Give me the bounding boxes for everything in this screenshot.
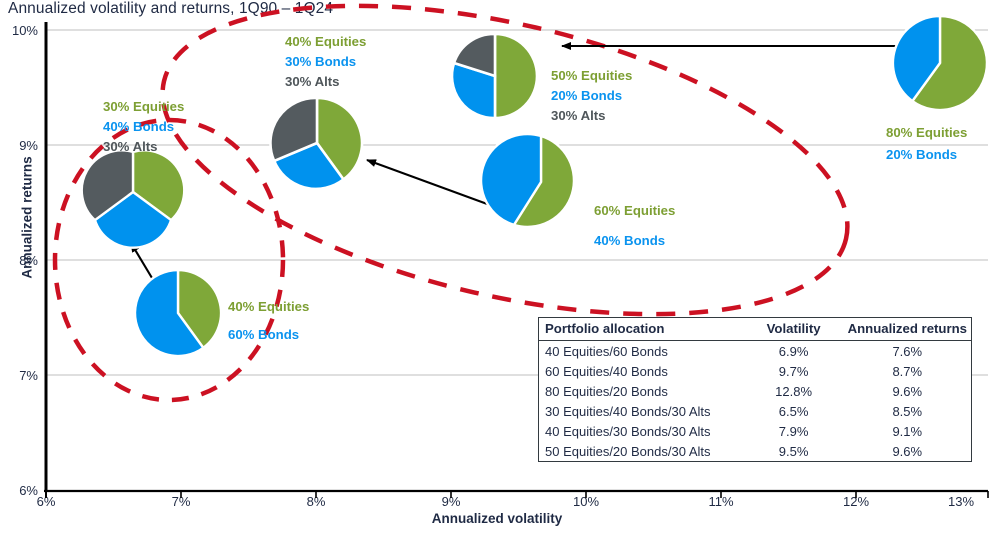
pie-label-line: 40% Equities [228, 293, 309, 321]
cell-volatility: 6.9% [744, 341, 842, 362]
pie-label-60-40: 60% Equities 40% Bonds [594, 196, 675, 256]
pie-40eq-60bd [135, 270, 221, 356]
col-header-allocation: Portfolio allocation [539, 318, 744, 341]
cell-allocation: 50 Equities/20 Bonds/30 Alts [539, 441, 744, 461]
cell-allocation: 80 Equities/20 Bonds [539, 381, 744, 401]
table-row: 50 Equities/20 Bonds/30 Alts 9.5% 9.6% [539, 441, 971, 461]
cell-volatility: 9.5% [744, 441, 842, 461]
pie-label-line: 60% Bonds [228, 321, 309, 349]
cell-allocation: 60 Equities/40 Bonds [539, 361, 744, 381]
pie-label-line: 40% Bonds [103, 117, 184, 137]
cell-allocation: 30 Equities/40 Bonds/30 Alts [539, 401, 744, 421]
pie-label-line: 60% Equities [594, 196, 675, 226]
cell-volatility: 9.7% [744, 361, 842, 381]
pie-60eq-40bd [481, 134, 574, 227]
cell-volatility: 12.8% [744, 381, 842, 401]
cell-volatility: 7.9% [744, 421, 842, 441]
table-row: 30 Equities/40 Bonds/30 Alts 6.5% 8.5% [539, 401, 971, 421]
pie-label-40-30-30: 40% Equities 30% Bonds 30% Alts [285, 32, 366, 92]
pie-label-line: 30% Alts [285, 72, 366, 92]
table-row: 80 Equities/20 Bonds 12.8% 9.6% [539, 381, 971, 401]
cell-returns: 9.6% [842, 441, 971, 461]
cell-allocation: 40 Equities/60 Bonds [539, 341, 744, 362]
table-header-row: Portfolio allocation Volatility Annualiz… [539, 318, 971, 341]
pie-label-line: 40% Bonds [594, 226, 675, 256]
pie-label-30-40-30: 30% Equities 40% Bonds 30% Alts [103, 97, 184, 157]
cell-volatility: 6.5% [744, 401, 842, 421]
col-header-volatility: Volatility [744, 318, 842, 341]
cell-returns: 7.6% [842, 341, 971, 362]
pie-40eq-30bd-30alt [270, 98, 362, 189]
pie-label-line: 40% Equities [285, 32, 366, 52]
cell-returns: 9.6% [842, 381, 971, 401]
cell-returns: 8.7% [842, 361, 971, 381]
pie-label-line: 50% Equities [551, 66, 632, 86]
pie-label-line: 30% Bonds [285, 52, 366, 72]
cell-returns: 8.5% [842, 401, 971, 421]
table-row: 60 Equities/40 Bonds 9.7% 8.7% [539, 361, 971, 381]
pie-label-line: 80% Equities [886, 122, 967, 144]
pie-label-line: 30% Alts [551, 106, 632, 126]
pie-label-40-60: 40% Equities 60% Bonds [228, 293, 309, 349]
cell-allocation: 40 Equities/30 Bonds/30 Alts [539, 421, 744, 441]
col-header-returns: Annualized returns [842, 318, 971, 341]
pie-label-line: 30% Alts [103, 137, 184, 157]
pie-label-line: 20% Bonds [551, 86, 632, 106]
pie-50eq-20bd-30alt [452, 34, 537, 118]
table-row: 40 Equities/30 Bonds/30 Alts 7.9% 9.1% [539, 421, 971, 441]
pie-label-80-20: 80% Equities 20% Bonds [886, 122, 967, 166]
pie-30eq-40bd-30alt [82, 150, 184, 247]
table-row: 40 Equities/60 Bonds 6.9% 7.6% [539, 341, 971, 362]
pie-label-50-20-30: 50% Equities 20% Bonds 30% Alts [551, 66, 632, 126]
pie-label-line: 30% Equities [103, 97, 184, 117]
pie-80eq-20bd [893, 16, 987, 110]
portfolio-allocation-table: Portfolio allocation Volatility Annualiz… [538, 317, 972, 462]
cell-returns: 9.1% [842, 421, 971, 441]
pie-label-line: 20% Bonds [886, 144, 967, 166]
